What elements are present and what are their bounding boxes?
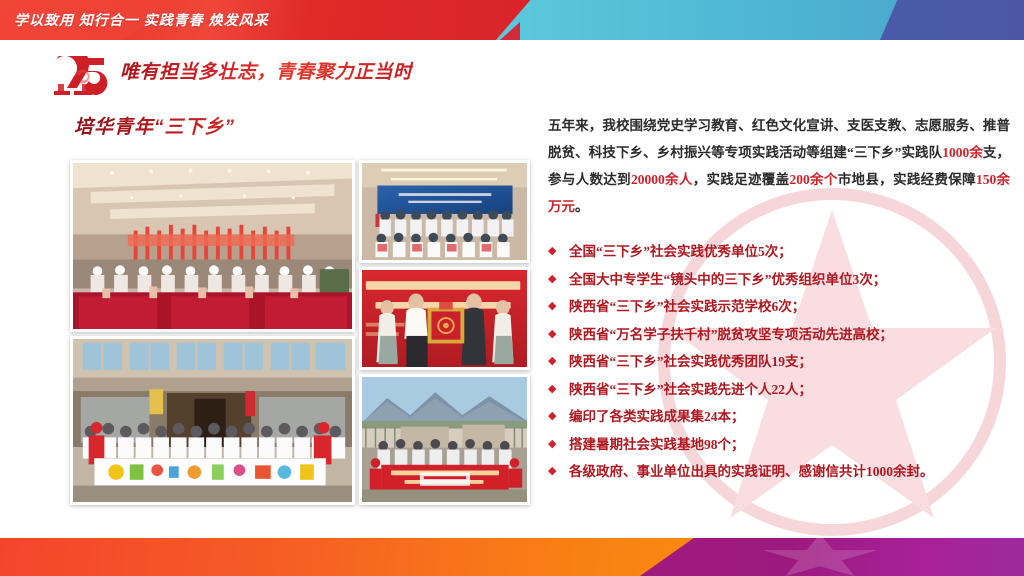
page-subtitle: 培华青年“三下乡” bbox=[74, 112, 522, 139]
list-item-label: 陕西省“万名学子扶千村”脱贫攻坚专项活动先进高校； bbox=[569, 325, 893, 344]
bottom-banner bbox=[0, 538, 1024, 576]
right-content-column: 五年来，我校围绕党史学习教育、红色文化宣讲、支医支教、志愿服务、推普脱贫、科技下… bbox=[548, 112, 1010, 490]
diamond-bullet-icon: ◆ bbox=[548, 242, 560, 261]
diamond-bullet-icon: ◆ bbox=[548, 380, 560, 399]
list-item: ◆全国“三下乡”社会实践优秀单位5次； bbox=[548, 242, 1010, 261]
header: 唯有担当多壮志，青春聚力正当时 培华青年“三下乡” bbox=[52, 56, 522, 139]
list-item-label: 各级政府、事业单位出具的实践证明、感谢信共计1000余封。 bbox=[569, 462, 934, 481]
list-item-label: 编印了各类实践成果集24本； bbox=[569, 407, 745, 426]
photo-outdoor-mountain-banner[interactable] bbox=[359, 374, 530, 505]
list-item: ◆陕西省“万名学子扶千村”脱贫攻坚专项活动先进高校； bbox=[548, 325, 1010, 344]
list-item: ◆全国大中专学生“镜头中的三下乡”优秀组织单位3次； bbox=[548, 270, 1010, 289]
paragraph-text: 。 bbox=[575, 199, 589, 214]
page-title: 唯有担当多壮志，青春聚力正当时 bbox=[120, 56, 413, 85]
photo-banner-group-building[interactable] bbox=[70, 336, 355, 505]
list-item-label: 陕西省“三下乡”社会实践先进个人22人； bbox=[569, 380, 812, 399]
diamond-bullet-icon: ◆ bbox=[548, 325, 560, 344]
list-item-label: 陕西省“三下乡”社会实践优秀团队19支； bbox=[569, 352, 812, 371]
achievement-list: ◆全国“三下乡”社会实践优秀单位5次；◆全国大中专学生“镜头中的三下乡”优秀组织… bbox=[548, 242, 1010, 481]
list-item: ◆搭建暑期社会实践基地98个； bbox=[548, 435, 1010, 454]
paragraph-highlight: 1000余 bbox=[942, 145, 983, 160]
list-item-label: 全国大中专学生“镜头中的三下乡”优秀组织单位3次； bbox=[569, 270, 886, 289]
paragraph-text: 五年来，我校围绕党史学习教育、红色文化宣讲、支医支教、志愿服务、推普脱贫、科技下… bbox=[548, 118, 1010, 160]
list-item: ◆陕西省“三下乡”社会实践先进个人22人； bbox=[548, 380, 1010, 399]
photo-stage-group-blue-screen[interactable] bbox=[359, 160, 530, 263]
diamond-bullet-icon: ◆ bbox=[548, 407, 560, 426]
paragraph-text: ，实践足迹覆盖 bbox=[693, 172, 790, 187]
diamond-bullet-icon: ◆ bbox=[548, 297, 560, 316]
list-item-label: 陕西省“三下乡”社会实践示范学校6次； bbox=[569, 297, 805, 316]
bottom-banner-orange-shape bbox=[0, 538, 720, 576]
list-item: ◆编印了各类实践成果集24本； bbox=[548, 407, 1010, 426]
header-title-row: 唯有担当多壮志，青春聚力正当时 bbox=[52, 56, 522, 98]
top-banner-slogan: 学以致用 知行合一 实践青春 焕发风采 bbox=[14, 10, 269, 30]
list-item: ◆陕西省“三下乡”社会实践优秀团队19支； bbox=[548, 352, 1010, 371]
list-item: ◆各级政府、事业单位出具的实践证明、感谢信共计1000余封。 bbox=[548, 462, 1010, 481]
top-banner-cyan-shape bbox=[496, 0, 926, 40]
top-banner: 学以致用 知行合一 实践青春 焕发风采 bbox=[0, 0, 1024, 40]
diamond-bullet-icon: ◆ bbox=[548, 270, 560, 289]
diamond-bullet-icon: ◆ bbox=[548, 435, 560, 454]
paragraph-text: 市地县，实践经费保障 bbox=[838, 172, 976, 187]
photo-plaque-presentation[interactable] bbox=[359, 267, 530, 370]
list-item: ◆陕西省“三下乡”社会实践示范学校6次； bbox=[548, 297, 1010, 316]
intro-paragraph: 五年来，我校围绕党史学习教育、红色文化宣讲、支医支教、志愿服务、推普脱贫、科技下… bbox=[548, 112, 1010, 220]
photo-collage bbox=[70, 160, 530, 505]
list-item-label: 全国“三下乡”社会实践优秀单位5次； bbox=[569, 242, 792, 261]
diamond-bullet-icon: ◆ bbox=[548, 352, 560, 371]
slide-root: 学以致用 知行合一 实践青春 焕发风采 bbox=[0, 0, 1024, 576]
diamond-bullet-icon: ◆ bbox=[548, 462, 560, 481]
anniversary-95-logo-icon bbox=[52, 56, 110, 98]
paragraph-highlight: 20000余人 bbox=[631, 172, 693, 187]
list-item-label: 搭建暑期社会实践基地98个； bbox=[569, 435, 745, 454]
paragraph-highlight: 200余个 bbox=[789, 172, 837, 187]
top-banner-purple-shape bbox=[880, 0, 1024, 40]
photo-auditorium-assembly[interactable] bbox=[70, 160, 355, 332]
